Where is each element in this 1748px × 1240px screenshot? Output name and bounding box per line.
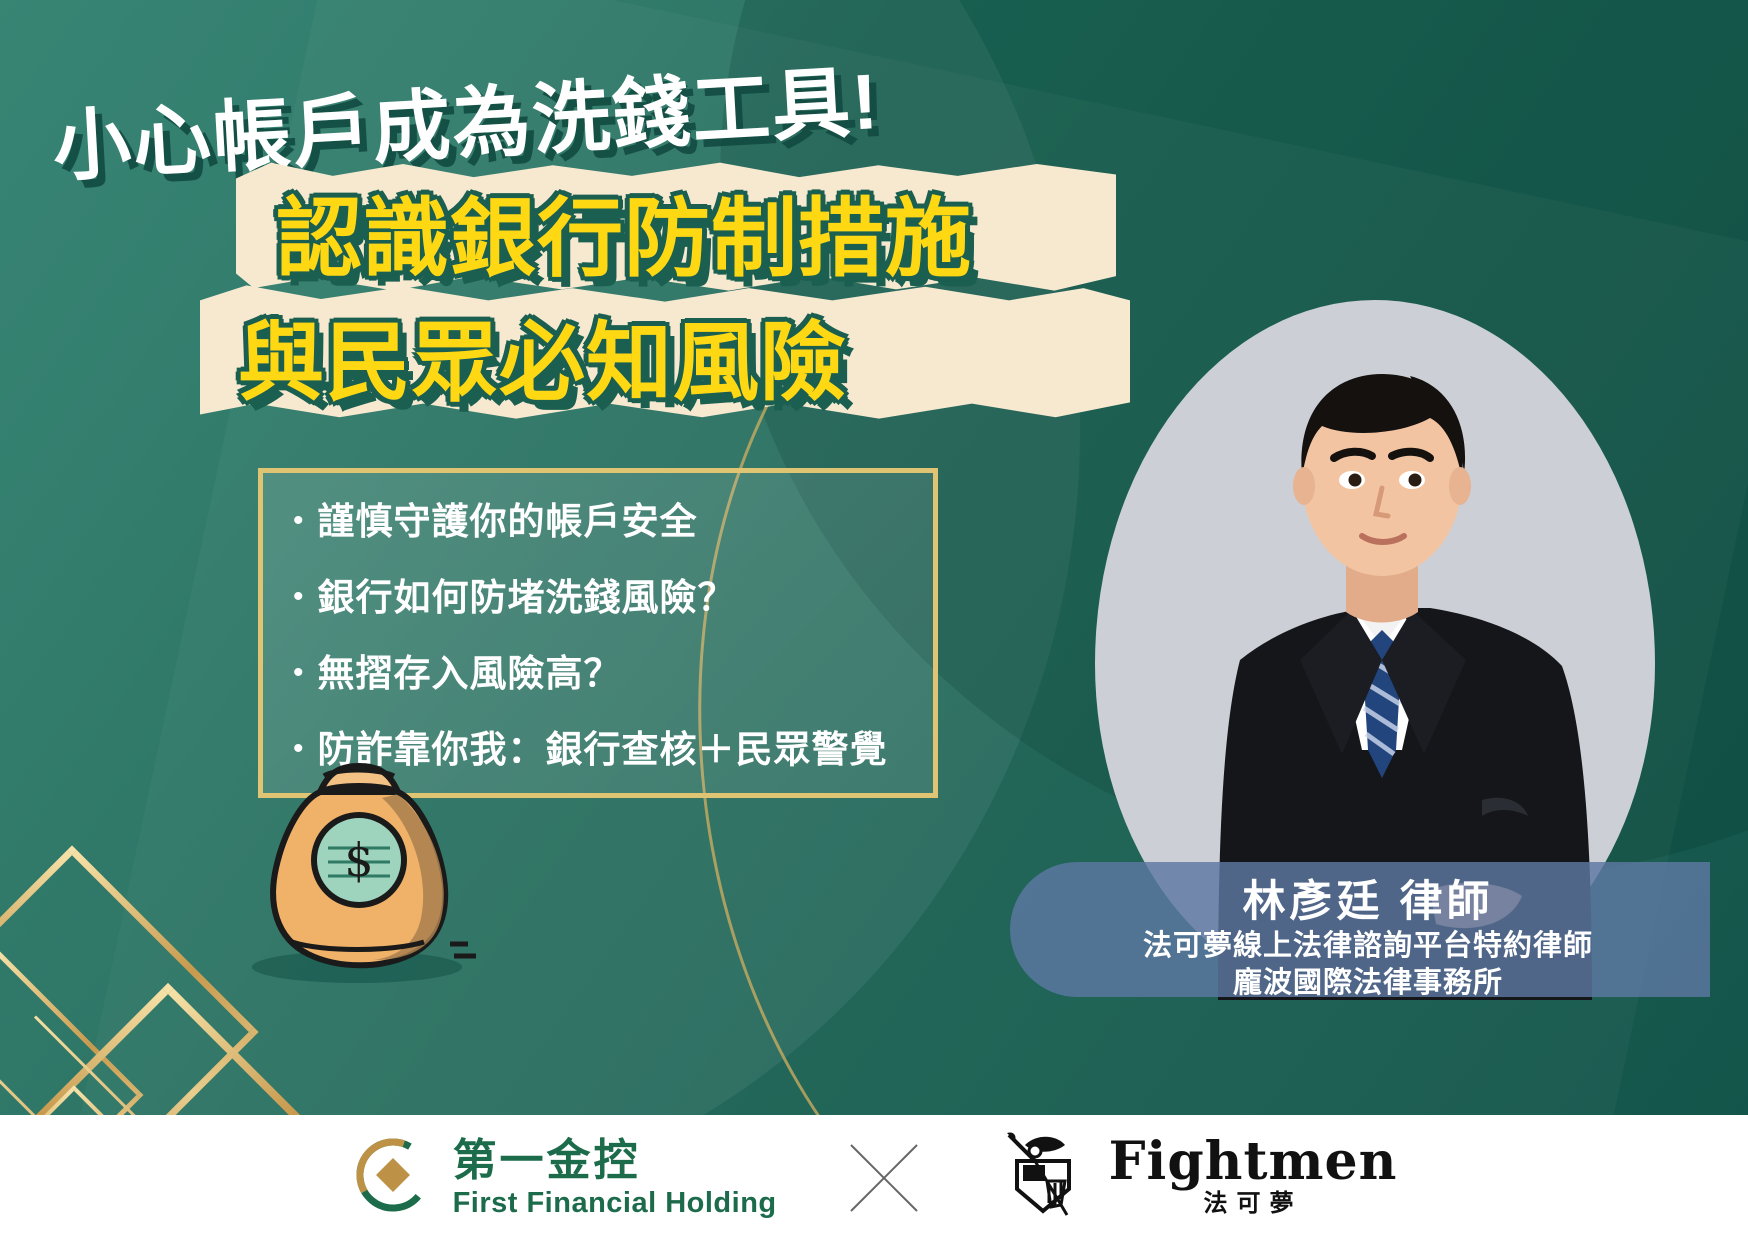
poster-canvas: 小心帳戶成為洗錢工具! 認識銀行防制措施 與民眾必知風險 • 謹慎守護你的帳戶安…	[0, 0, 1748, 1240]
bullet-list-box: • 謹慎守護你的帳戶安全 • 銀行如何防堵洗錢風險？ • 無摺存入風險高？ • …	[258, 468, 938, 798]
speaker-affiliation-2: 龐波國際法律事務所	[1070, 965, 1666, 1002]
bullet-dot-icon: •	[293, 499, 304, 543]
speaker-affiliation-1: 法可夢線上法律諮詢平台特約律師	[1070, 928, 1666, 965]
speaker-info-card: 林彥廷 律師 法可夢線上法律諮詢平台特約律師 龐波國際法律事務所	[1010, 862, 1710, 997]
list-item-label: 銀行如何防堵洗錢風險？	[318, 575, 736, 621]
fightmen-cn-label: 法可夢	[1109, 1188, 1398, 1220]
first-financial-en-label: First Financial Holding	[453, 1187, 777, 1219]
title-line-1: 認識銀行防制措施	[276, 168, 972, 293]
list-item: • 無摺存入風險高？	[293, 651, 911, 697]
list-item-label: 謹慎守護你的帳戶安全	[318, 499, 698, 545]
knight-shield-logo-icon	[991, 1127, 1095, 1228]
money-bag-icon: $	[232, 752, 482, 987]
first-financial-holding-logo: 第一金控 First Financial Holding	[351, 1133, 777, 1222]
svg-text:$: $	[344, 833, 373, 887]
footer-bar: 第一金控 First Financial Holding	[0, 1115, 1748, 1240]
list-item: • 銀行如何防堵洗錢風險？	[293, 575, 911, 621]
list-item-label: 無摺存入風險高？	[318, 651, 622, 697]
bullet-dot-icon: •	[293, 651, 304, 695]
bullet-dot-icon: •	[293, 575, 304, 619]
fightmen-logo: Fightmen 法可夢	[991, 1127, 1398, 1228]
title-line-2: 與民眾必知風險	[238, 292, 847, 417]
x-cross-icon	[847, 1141, 921, 1215]
fightmen-en-label: Fightmen	[1109, 1131, 1398, 1192]
list-item: • 謹慎守護你的帳戶安全	[293, 499, 911, 545]
speaker-name: 林彥廷 律師	[1070, 876, 1666, 928]
circle-diamond-logo-icon	[351, 1133, 435, 1222]
first-financial-cn-label: 第一金控	[453, 1136, 641, 1185]
